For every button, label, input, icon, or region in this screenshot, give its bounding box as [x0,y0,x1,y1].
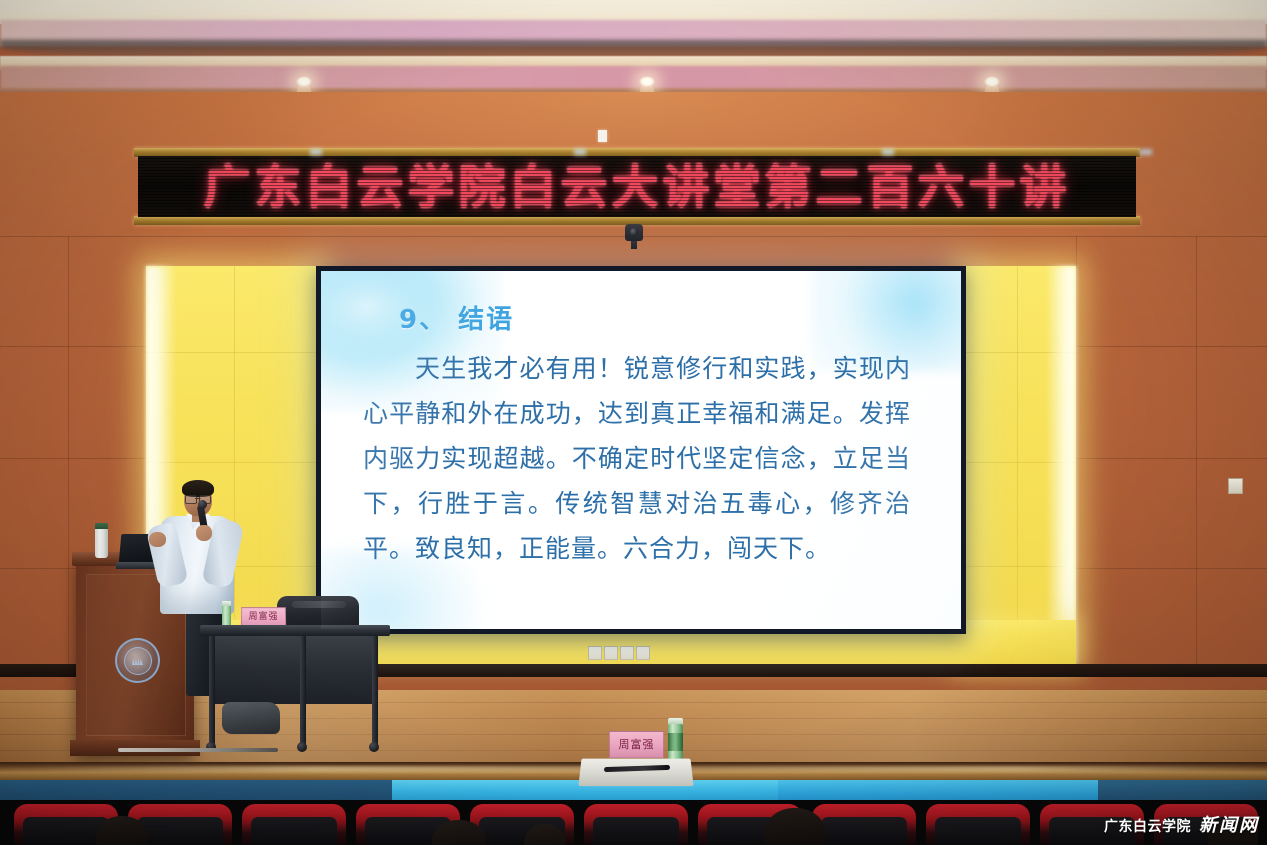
stage-table-leg [209,636,215,746]
stage-chair-highlight [292,601,346,608]
wall-outlet[interactable] [636,646,650,660]
wall-tile-seam-v [68,236,69,666]
speaker-right-hand [196,525,212,541]
university-seal-icon [115,638,160,683]
led-banner-glint [1140,149,1152,155]
slide-paragraph: 天生我才必有用！锐意修行和实践，实现内心平静和外在成功，达到真正幸福和满足。发挥… [363,346,911,571]
microphone-head [198,500,207,509]
stage-table-caster [297,742,307,752]
projection-screen: 9、 结语 天生我才必有用！锐意修行和实践，实现内心平静和外在成功，达到真正幸福… [316,266,966,634]
stage-table-top [200,625,390,636]
lecture-hall-photo: 广东白云学院白云大讲堂第二百六十讲 9、 结语 天生我才必有用！锐意修行和实践，… [0,0,1267,845]
stage-table-skirt [210,636,378,704]
led-banner-glint [574,149,586,155]
front-name-card: 周富强 [609,731,664,758]
speaker-left-hand [149,532,166,547]
audience-seat[interactable] [926,804,1030,845]
wall-tile-seam-v [1196,236,1197,666]
wall-outlet[interactable] [588,646,602,660]
wall-outlet[interactable] [620,646,634,660]
ceiling-downlight-right [984,76,1000,87]
watermark-site: 新闻网 [1199,811,1259,837]
ceiling-downlight-center [639,76,655,87]
led-banner-board: 广东白云学院白云大讲堂第二百六十讲 [138,156,1136,217]
watermark-org: 广东白云学院 [1104,816,1191,836]
black-bag [222,702,280,734]
front-name-card-text: 周富强 [619,739,655,750]
projection-screen-surface: 9、 结语 天生我才必有用！锐意修行和实践，实现内心平静和外在成功，达到真正幸福… [321,271,961,629]
audience-seat[interactable] [584,804,688,845]
water-bottle-cap [222,601,231,606]
stage-table-caster [369,742,379,752]
ceiling-downlight-left [296,76,312,87]
audience-seat[interactable] [242,804,346,845]
slide-content: 9、 结语 天生我才必有用！锐意修行和实践，实现内心平静和外在成功，达到真正幸福… [321,271,961,571]
led-banner-text: 广东白云学院白云大讲堂第二百六十讲 [204,164,1071,210]
led-banner: 广东白云学院白云大讲堂第二百六十讲 [134,148,1140,225]
thermos-cup [95,527,108,558]
backlit-panel-right-hotedge [1046,266,1076,664]
watermark: 广东白云学院 新闻网 [1104,811,1259,837]
front-paper-tray [578,759,693,786]
audience-seat[interactable] [812,804,916,845]
wall-outlet[interactable] [604,646,618,660]
stage-table-leg [300,636,306,746]
wall-sensor-box [598,130,607,142]
front-water-bottle-label [668,733,683,751]
led-banner-glint [882,149,894,155]
led-banner-glint [310,149,322,155]
slide-title: 9、 结语 [399,299,927,336]
thermos-cup-lid [95,523,108,529]
wall-outlet[interactable] [1228,478,1243,494]
stage-name-card-text: 周富强 [248,613,278,622]
floor-cable [118,748,278,752]
ptz-camera-icon [623,224,645,251]
stage-table-leg [372,636,378,746]
wall-tile-seam-v [1076,236,1077,666]
